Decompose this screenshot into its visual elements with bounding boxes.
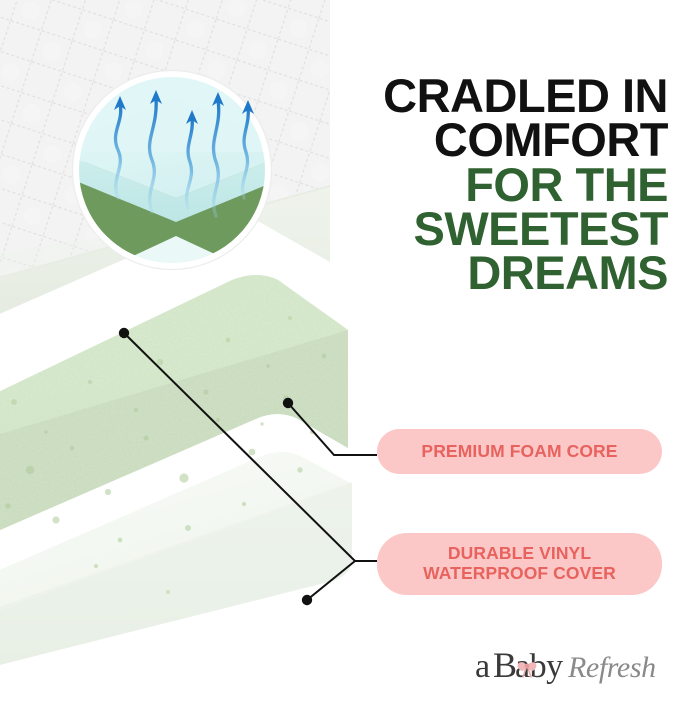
- callout-badge-premium-foam-core: PREMIUM FOAM CORE: [377, 429, 662, 474]
- logo-text-B: B: [493, 648, 516, 685]
- callout-label-premium-foam-core: PREMIUM FOAM CORE: [421, 442, 617, 462]
- headline-line-4: SWEETEST: [328, 207, 668, 251]
- logo-text-a: a: [475, 648, 490, 685]
- callout-label-vinyl-line-2: WATERPROOF COVER: [423, 564, 616, 584]
- headline-line-2: COMFORT: [328, 118, 668, 162]
- headline: CRADLED IN COMFORT FOR THE SWEETEST DREA…: [328, 74, 668, 295]
- callout-badge-durable-vinyl-waterproof-cover: DURABLE VINYL WATERPROOF COVER: [377, 533, 662, 595]
- brand-logo-ababyrefresh: a B aby Refresh: [473, 648, 668, 688]
- infographic-canvas: CRADLED IN COMFORT FOR THE SWEETEST DREA…: [0, 0, 679, 707]
- headline-line-3: FOR THE: [328, 163, 668, 207]
- headline-line-1: CRADLED IN: [328, 74, 668, 118]
- logo-text-refresh: Refresh: [567, 651, 656, 684]
- callout-label-vinyl-line-1: DURABLE VINYL: [423, 544, 616, 564]
- headline-line-5: DREAMS: [328, 251, 668, 295]
